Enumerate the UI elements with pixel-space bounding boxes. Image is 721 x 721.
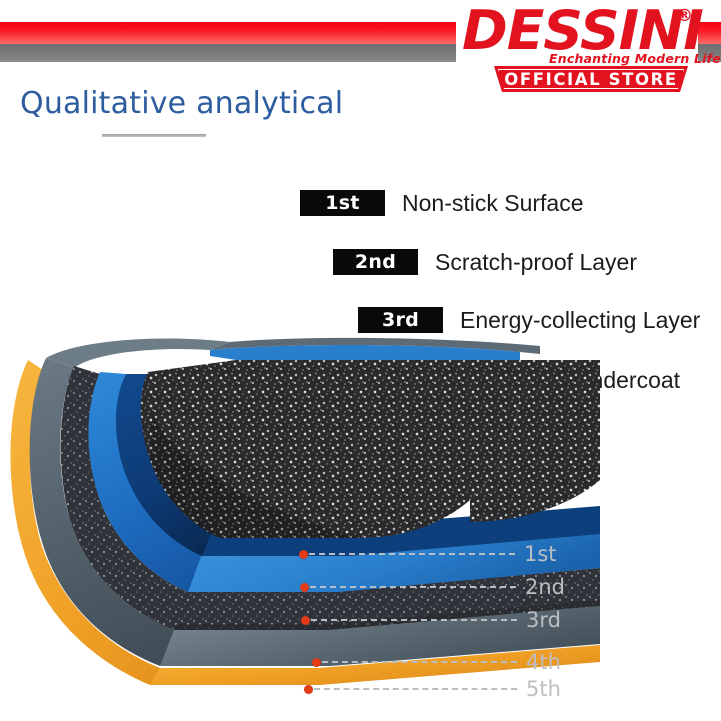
callout-dot-1: [299, 550, 308, 559]
callout-4th: 4th: [312, 650, 561, 674]
callout-5th: 5th: [304, 677, 561, 701]
callout-dot-5: [304, 685, 313, 694]
callout-dot-3: [301, 616, 310, 625]
callout-leader-2: [310, 586, 516, 588]
legend-badge-1: 1st: [300, 190, 385, 216]
callout-label-2: 2nd: [525, 575, 565, 599]
legend-item-1: 1st Non-stick Surface: [300, 188, 584, 218]
callout-label-4: 4th: [526, 650, 561, 674]
callout-leader-4: [322, 661, 517, 663]
callout-dot-4: [312, 658, 321, 667]
callout-1st: 1st: [299, 542, 557, 566]
callout-dot-2: [300, 583, 309, 592]
callout-label-3: 3rd: [526, 608, 561, 632]
legend-label-1: Non-stick Surface: [402, 190, 584, 217]
callout-label-5: 5th: [526, 677, 561, 701]
callout-2nd: 2nd: [300, 575, 565, 599]
undercoat-rim-facet: [46, 339, 230, 368]
product-infographic-page: DESSINI ® Enchanting Modern Life OFFICIA…: [0, 0, 721, 721]
legend-badge-2: 2nd: [333, 249, 418, 275]
callout-label-1: 1st: [524, 542, 557, 566]
callout-leader-5: [314, 688, 517, 690]
callout-leader-1: [309, 553, 515, 555]
callout-3rd: 3rd: [301, 608, 561, 632]
callout-leader-3: [311, 619, 517, 621]
legend-item-2: 2nd Scratch-proof Layer: [333, 247, 637, 277]
legend-label-2: Scratch-proof Layer: [435, 249, 637, 276]
